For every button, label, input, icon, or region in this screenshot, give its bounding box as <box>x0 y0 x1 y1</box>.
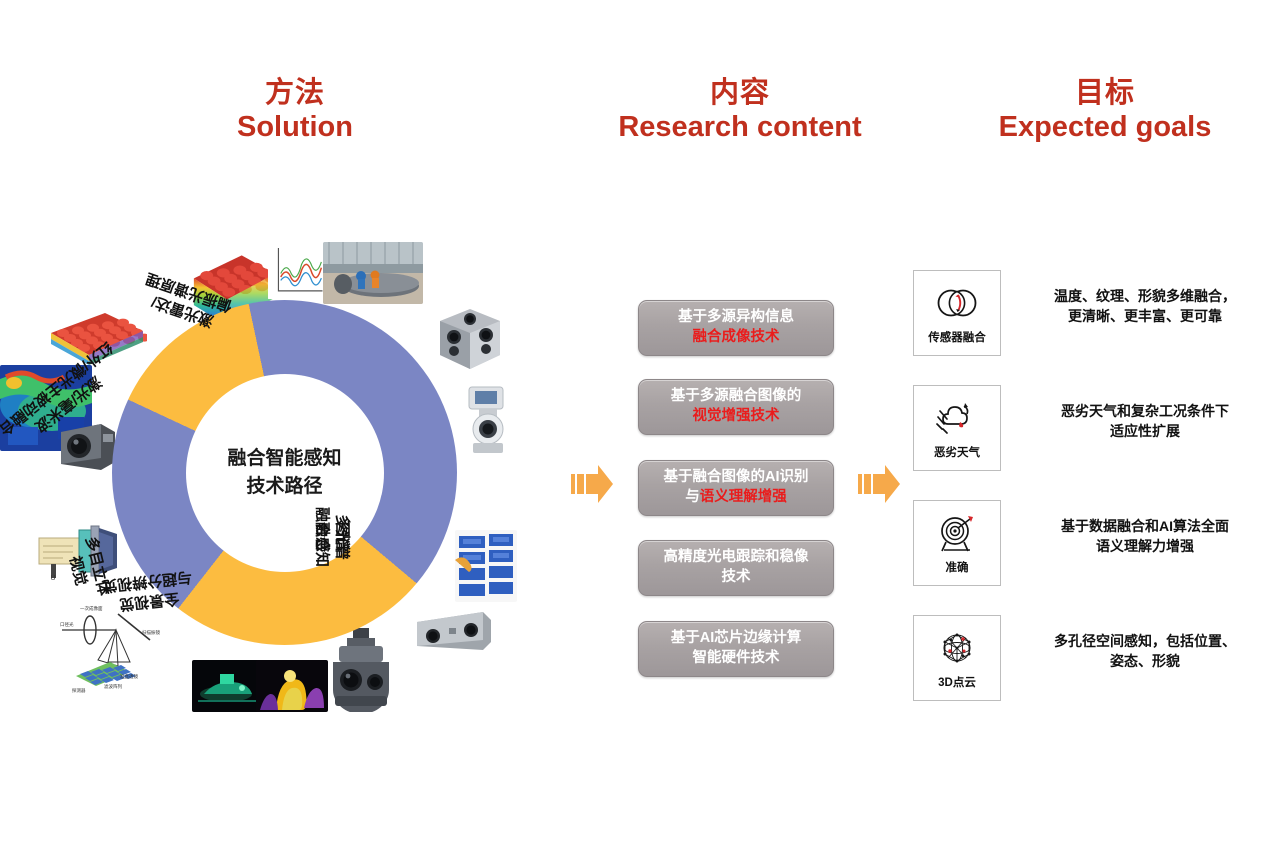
goal-description: 基于数据融合和AI算法全面 语义理解力增强 <box>1026 516 1264 557</box>
goal-card-caption: 传感器融合 <box>928 329 986 345</box>
goal-card-caption: 恶劣天气 <box>934 444 980 460</box>
svg-text:滤波阵列: 滤波阵列 <box>104 683 122 690</box>
thermal-camera-thumb <box>57 420 117 472</box>
box-line-2: 视觉增强技术 <box>671 407 802 427</box>
goal-description: 温度、纹理、形貌多维融合， 更清晰、更丰富、更可靠 <box>1026 286 1264 327</box>
research-content-box-text: 基于多源融合图像的视觉增强技术 <box>671 387 802 426</box>
header-goals-cn: 目标 <box>955 76 1255 110</box>
spectral-curve-plot-thumb <box>268 240 326 300</box>
night-vision-scene-thumb <box>192 660 264 712</box>
box-line-2: 与语义理解增强 <box>664 488 809 508</box>
box-line-1: 基于融合图像的AI识别 <box>664 468 809 488</box>
goal-card-caption: 3D点云 <box>938 674 976 690</box>
goal-description: 恶劣天气和复杂工况条件下 适应性扩展 <box>1026 401 1264 442</box>
donut-center-label: 融合智能感知 技术路径 <box>227 445 341 500</box>
svg-text:探测器: 探测器 <box>72 687 86 694</box>
point-cloud-icon <box>934 627 980 669</box>
header-goals-en: Expected goals <box>955 110 1255 144</box>
goal-card[interactable]: 恶劣天气 <box>913 385 1001 471</box>
goal-card-caption: 准确 <box>946 559 969 575</box>
svg-text:一次成像面: 一次成像面 <box>80 605 103 612</box>
header-content-cn: 内容 <box>600 76 880 110</box>
research-content-box-text: 基于融合图像的AI识别与语义理解增强 <box>664 468 809 507</box>
svg-text:U: U <box>50 575 55 582</box>
research-content-box-text: 基于AI芯片边缘计算智能硬件技术 <box>671 629 802 668</box>
research-content-box[interactable]: 基于多源融合图像的视觉增强技术 <box>638 379 834 435</box>
donut-center: 融合智能感知 技术路径 <box>186 374 384 572</box>
research-content-box[interactable]: 基于融合图像的AI识别与语义理解增强 <box>638 460 834 516</box>
research-content-box[interactable]: 高精度光电跟踪和稳像技术 <box>638 540 834 596</box>
svg-text:口径光: 口径光 <box>60 621 74 628</box>
arrow-solution-to-content <box>568 462 614 506</box>
research-content-box[interactable]: 基于AI芯片边缘计算智能硬件技术 <box>638 621 834 677</box>
arrow-content-to-goals <box>855 462 901 506</box>
header-solution-cn: 方法 <box>170 76 420 110</box>
column-header-solution: 方法 Solution <box>170 76 420 144</box>
box-line-1: 基于多源融合图像的 <box>671 387 802 407</box>
header-solution-en: Solution <box>170 110 420 144</box>
box-line-1: 基于AI芯片边缘计算 <box>671 629 802 649</box>
ptz-dome-camera-thumb <box>459 385 519 457</box>
goal-description: 多孔径空间感知，包括位置、 姿态、形貌 <box>1026 631 1264 672</box>
depth-map-blocks-thumb <box>455 530 517 602</box>
diagram-canvas: 方法 Solution 内容 Research content 目标 Expec… <box>0 0 1268 866</box>
research-content-box-text: 高精度光电跟踪和稳像技术 <box>664 548 809 587</box>
rain-weather-icon <box>934 397 980 439</box>
column-header-content: 内容 Research content <box>600 76 880 144</box>
research-content-box[interactable]: 基于多源异构信息融合成像技术 <box>638 300 834 356</box>
box-line-1: 基于多源异构信息 <box>678 308 794 328</box>
column-header-goals: 目标 Expected goals <box>955 76 1255 144</box>
target-dart-icon <box>934 512 980 554</box>
box-line-2: 智能硬件技术 <box>671 649 802 669</box>
pipeline-inspection-thumb <box>323 242 423 304</box>
header-content-en: Research content <box>600 110 880 144</box>
venn-circles-icon <box>934 282 980 324</box>
box-line-2: 技术 <box>664 568 809 588</box>
goal-card[interactable]: 传感器融合 <box>913 270 1001 356</box>
goal-card[interactable]: 3D点云 <box>913 615 1001 701</box>
thermal-figure-thumb <box>256 660 328 712</box>
box-line-1: 高精度光电跟踪和稳像 <box>664 548 809 568</box>
goal-card[interactable]: 准确 <box>913 500 1001 586</box>
svg-text:准直透镜: 准直透镜 <box>120 673 138 680</box>
technology-roadmap-donut: 融合智能感知 技术路径 图谱 融合感知全景视觉 与超分辨视觉多目立体 视觉激光/… <box>112 300 457 645</box>
research-content-box-text: 基于多源异构信息融合成像技术 <box>678 308 794 347</box>
box-line-2: 融合成像技术 <box>678 328 794 348</box>
